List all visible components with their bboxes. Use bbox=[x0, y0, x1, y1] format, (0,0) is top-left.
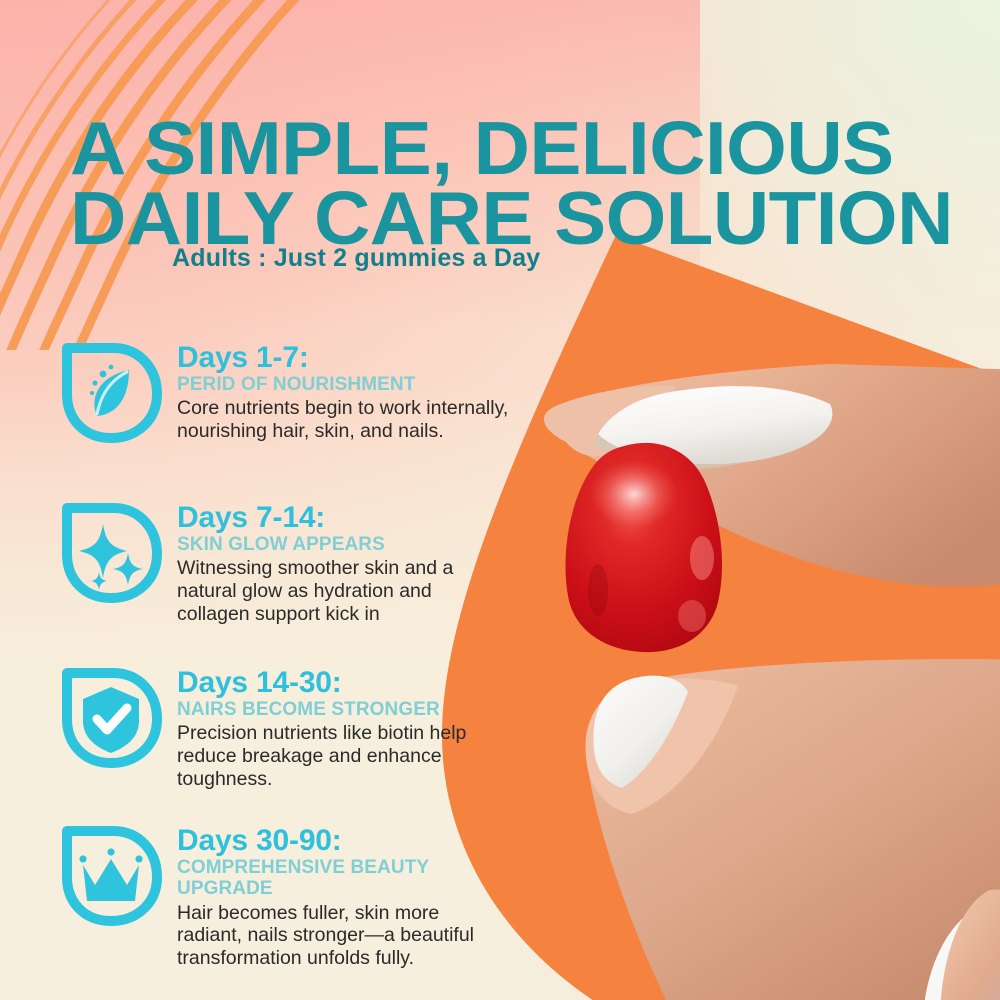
step-body: Witnessing smoother skin and a natural g… bbox=[177, 557, 453, 625]
list-item-text: Days 1-7: PERID OF NOURISHMENT Core nutr… bbox=[167, 336, 508, 443]
step-subtitle: COMPREHENSIVE BEAUTY UPGRADE bbox=[177, 857, 522, 900]
step-subtitle: SKIN GLOW APPEARS bbox=[177, 534, 453, 555]
benefit-timeline-list: Days 1-7: PERID OF NOURISHMENT Core nutr… bbox=[52, 336, 522, 969]
list-item-text: Days 14-30: NAIRS BECOME STRONGER Precis… bbox=[167, 661, 466, 790]
list-item: Days 1-7: PERID OF NOURISHMENT Core nutr… bbox=[52, 336, 522, 496]
droplet-crown-icon bbox=[55, 819, 167, 931]
step-subtitle: PERID OF NOURISHMENT bbox=[177, 374, 508, 395]
list-item-text: Days 30-90: COMPREHENSIVE BEAUTY UPGRADE… bbox=[167, 819, 522, 970]
poster-canvas: A SIMPLE, DELICIOUS DAILY CARE SOLUTION … bbox=[0, 0, 1000, 1000]
list-item: Days 30-90: COMPREHENSIVE BEAUTY UPGRADE… bbox=[52, 819, 522, 969]
step-subtitle: NAIRS BECOME STRONGER bbox=[177, 699, 466, 720]
hand-holding-gummy-photo bbox=[470, 330, 1000, 1000]
droplet-shield-check-icon bbox=[55, 661, 167, 773]
step-title: Days 14-30: bbox=[177, 667, 466, 698]
step-title: Days 7-14: bbox=[177, 502, 453, 533]
headline-line-2: DAILY CARE SOLUTION bbox=[70, 184, 985, 254]
list-item-text: Days 7-14: SKIN GLOW APPEARS Witnessing … bbox=[167, 496, 453, 625]
step-title: Days 1-7: bbox=[177, 342, 508, 373]
page-title: A SIMPLE, DELICIOUS DAILY CARE SOLUTION bbox=[70, 44, 985, 323]
step-title: Days 30-90: bbox=[177, 825, 522, 856]
droplet-leaf-icon bbox=[55, 336, 167, 448]
list-item: Days 14-30: NAIRS BECOME STRONGER Precis… bbox=[52, 661, 522, 819]
droplet-sparkle-icon bbox=[55, 496, 167, 608]
dosage-subtitle: Adults : Just 2 gummies a Day bbox=[172, 244, 540, 273]
step-body: Core nutrients begin to work internally,… bbox=[177, 397, 508, 442]
step-body: Precision nutrients like biotin help red… bbox=[177, 722, 466, 790]
step-body: Hair becomes fuller, skin more radiant, … bbox=[177, 902, 522, 970]
list-item: Days 7-14: SKIN GLOW APPEARS Witnessing … bbox=[52, 496, 522, 661]
